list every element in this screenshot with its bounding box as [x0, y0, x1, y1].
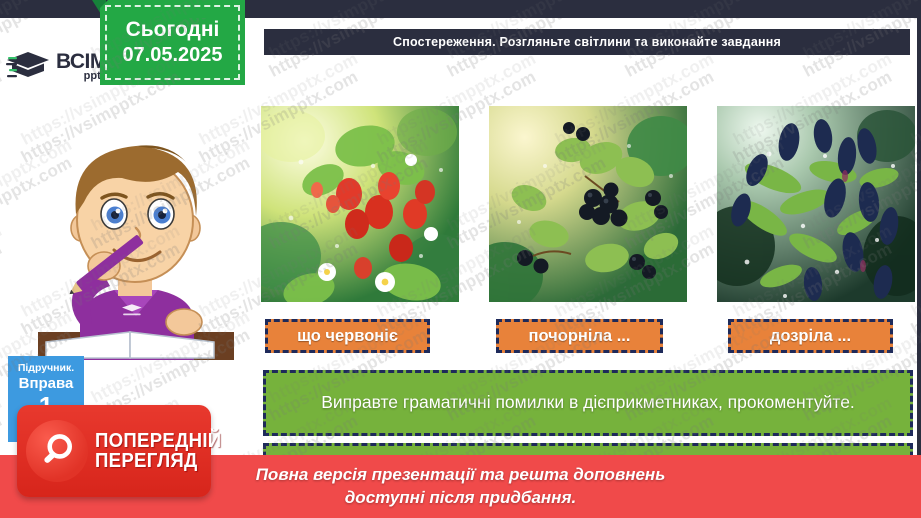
- task-box-1-text: Виправте граматичні помилки в дієприкмет…: [321, 391, 855, 415]
- slide-viewer: ВСІМ pptx: [0, 0, 921, 518]
- graduation-cap-icon: [6, 46, 52, 86]
- preview-badge[interactable]: ПОПЕРЕДНІЙ ПЕРЕГЛЯД: [17, 405, 211, 497]
- boy-writing-illustration: [18, 110, 253, 360]
- word-chip-2[interactable]: почорніла ...: [496, 319, 663, 353]
- word-chip-1[interactable]: що червоніє: [265, 319, 430, 353]
- photo-strawberries: [261, 106, 459, 302]
- photo-blackcurrants: [489, 106, 687, 302]
- exercise-kind: Вправа: [8, 375, 84, 392]
- preview-badge-line2: ПЕРЕГЛЯД: [95, 451, 221, 471]
- watermark-text: https://vsimpptx.com: [0, 67, 6, 168]
- date-badge: Сьогодні 07.05.2025: [100, 0, 245, 85]
- word-chip-2-label: почорніла ...: [529, 327, 631, 346]
- brand-logo: ВСІМ pptx: [6, 42, 110, 90]
- brand-name: ВСІМ: [56, 51, 107, 72]
- date-badge-label: Сьогодні: [126, 18, 220, 42]
- preview-badge-line1: ПОПЕРЕДНІЙ: [95, 431, 221, 451]
- word-chip-3[interactable]: дозріла ...: [728, 319, 893, 353]
- date-badge-date: 07.05.2025: [122, 44, 222, 67]
- word-chip-1-label: що червоніє: [297, 327, 398, 346]
- slide-header-title: Спостереження. Розгляньте світлини та ви…: [393, 35, 781, 49]
- watermark-text: https://vsimpptx.com: [0, 239, 6, 340]
- magnifier-icon: [26, 420, 88, 482]
- exercise-source: Підручник.: [8, 362, 84, 374]
- word-chip-3-label: дозріла ...: [770, 327, 851, 346]
- task-box-1: Виправте граматичні помилки в дієприкмет…: [263, 370, 913, 436]
- photo-honeyberries: [717, 106, 915, 302]
- slide-header-bar: Спостереження. Розгляньте світлини та ви…: [262, 27, 912, 57]
